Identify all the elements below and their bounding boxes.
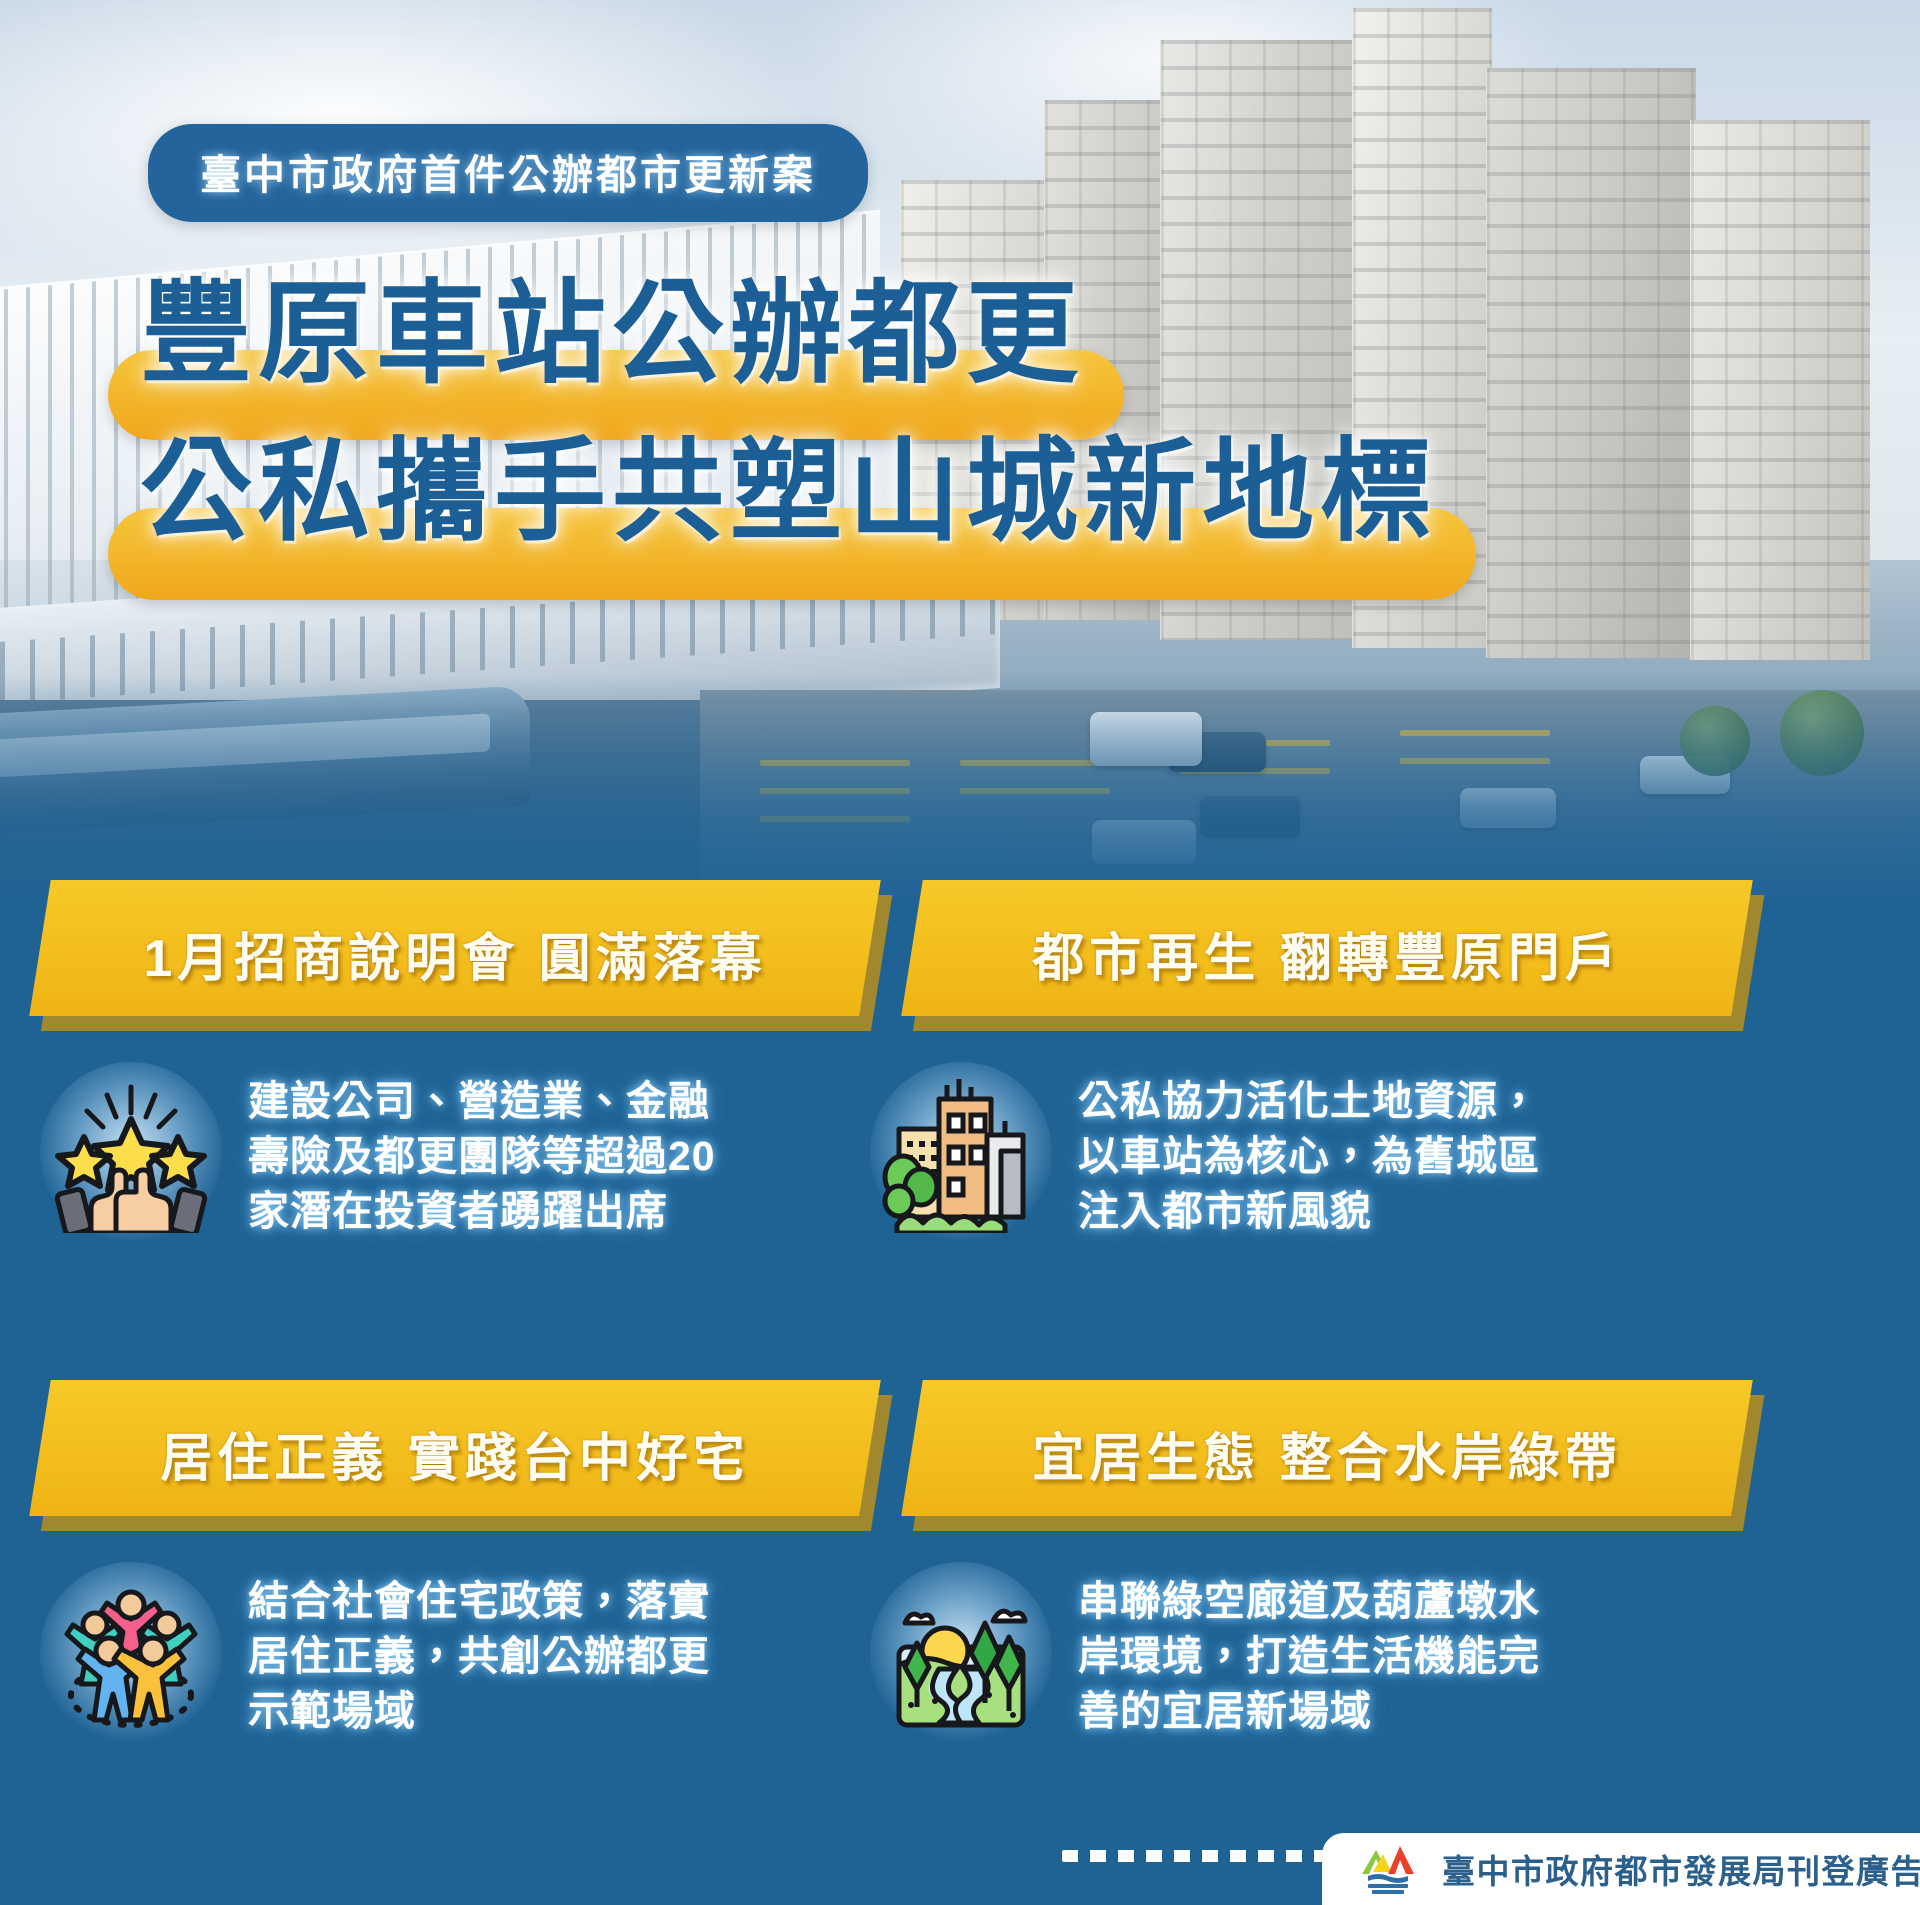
footer-bar: 臺中市政府都市發展局刊登廣告 <box>0 1809 1920 1905</box>
copy-line: 串聯綠空廊道及葫蘆墩水 <box>1078 1574 1540 1629</box>
feature-banner-2: 都市再生 翻轉豐原門戶 <box>850 880 1780 1030</box>
feature-text-2: 公私協力活化土地資源， 以車站為核心，為舊城區 注入都市新風貌 <box>1078 1062 1540 1239</box>
copy-line: 示範場域 <box>248 1684 710 1739</box>
title-line-1: 豐原車站公辦都更 <box>140 278 1084 390</box>
feature-body-3: 結合社會住宅政策，落實 居住正義，共創公辦都更 示範場域 <box>40 1562 970 1744</box>
hero-gradient-fade <box>0 675 1920 905</box>
feature-banner-4: 宜居生態 整合水岸綠帶 <box>850 1380 1780 1530</box>
feature-banner-label-2: 都市再生 翻轉豐原門戶 <box>912 916 1742 991</box>
feature-body-2: 公私協力活化土地資源， 以車站為核心，為舊城區 注入都市新風貌 <box>870 1062 1800 1244</box>
feature-banner-label-3: 居住正義 實踐台中好宅 <box>40 1416 870 1491</box>
feature-banner-3: 居住正義 實踐台中好宅 <box>40 1380 970 1530</box>
feature-card-2: 都市再生 翻轉豐原門戶 <box>850 880 1780 1030</box>
main-title: 豐原車站公辦都更 公私攜手共塑山城新地標 <box>0 250 1920 408</box>
feature-card-1: 1月招商說明會 圓滿落幕 <box>40 880 970 1030</box>
dotted-divider <box>1062 1850 1362 1862</box>
copy-line: 家潛在投資者踴躍出席 <box>248 1184 716 1239</box>
copy-line: 壽險及都更團隊等超過20 <box>248 1129 716 1184</box>
feature-banner-1: 1月招商說明會 圓滿落幕 <box>40 880 970 1030</box>
feature-body-1: 建設公司、營造業、金融 壽險及都更團隊等超過20 家潛在投資者踴躍出席 <box>40 1062 970 1244</box>
top-badge-label: 臺中市政府首件公辦都市更新案 <box>200 141 816 201</box>
content-grid: 1月招商說明會 圓滿落幕 <box>0 880 1920 1880</box>
title-rows: 豐原車站公辦都更 公私攜手共塑山城新地標 <box>0 250 1920 408</box>
footer-credit-card: 臺中市政府都市發展局刊登廣告 <box>1322 1833 1920 1905</box>
copy-line: 結合社會住宅政策，落實 <box>248 1574 710 1629</box>
copy-line: 以車站為核心，為舊城區 <box>1078 1129 1540 1184</box>
feature-body-4: 串聯綠空廊道及葫蘆墩水 岸環境，打造生活機能完 善的宜居新場域 <box>870 1562 1800 1744</box>
title-line-2: 公私攜手共塑山城新地標 <box>140 436 1438 548</box>
feature-card-3: 居住正義 實踐台中好宅 <box>40 1380 970 1530</box>
feature-banner-label-4: 宜居生態 整合水岸綠帶 <box>912 1416 1742 1491</box>
community-people-icon <box>40 1562 222 1744</box>
poster-root: 臺中市政府首件公辦都市更新案 豐原車站公辦都更 公私攜手共塑山城新地標 1月招商… <box>0 0 1920 1905</box>
content-row-2: 居住正義 實踐台中好宅 <box>0 1380 1920 1880</box>
top-badge: 臺中市政府首件公辦都市更新案 <box>148 124 868 222</box>
feature-banner-label-1: 1月招商說明會 圓滿落幕 <box>40 916 870 991</box>
feature-card-4: 宜居生態 整合水岸綠帶 <box>850 1380 1780 1530</box>
copy-line: 公私協力活化土地資源， <box>1078 1074 1540 1129</box>
river-landscape-icon <box>870 1562 1052 1744</box>
copy-line: 建設公司、營造業、金融 <box>248 1074 716 1129</box>
copy-line: 居住正義，共創公辦都更 <box>248 1629 710 1684</box>
copy-line: 善的宜居新場域 <box>1078 1684 1540 1739</box>
footer-credit-label: 臺中市政府都市發展局刊登廣告 <box>1442 1845 1920 1893</box>
copy-line: 岸環境，打造生活機能完 <box>1078 1629 1540 1684</box>
feature-text-3: 結合社會住宅政策，落實 居住正義，共創公辦都更 示範場域 <box>248 1562 710 1739</box>
feature-text-4: 串聯綠空廊道及葫蘆墩水 岸環境，打造生活機能完 善的宜居新場域 <box>1078 1562 1540 1739</box>
feature-text-1: 建設公司、營造業、金融 壽險及都更團隊等超過20 家潛在投資者踴躍出席 <box>248 1062 716 1239</box>
city-buildings-icon <box>870 1062 1052 1244</box>
copy-line: 注入都市新風貌 <box>1078 1184 1540 1239</box>
taichung-city-government-logo <box>1356 1840 1420 1898</box>
content-row-1: 1月招商說明會 圓滿落幕 <box>0 880 1920 1380</box>
thumbs-up-stars-icon <box>40 1062 222 1244</box>
